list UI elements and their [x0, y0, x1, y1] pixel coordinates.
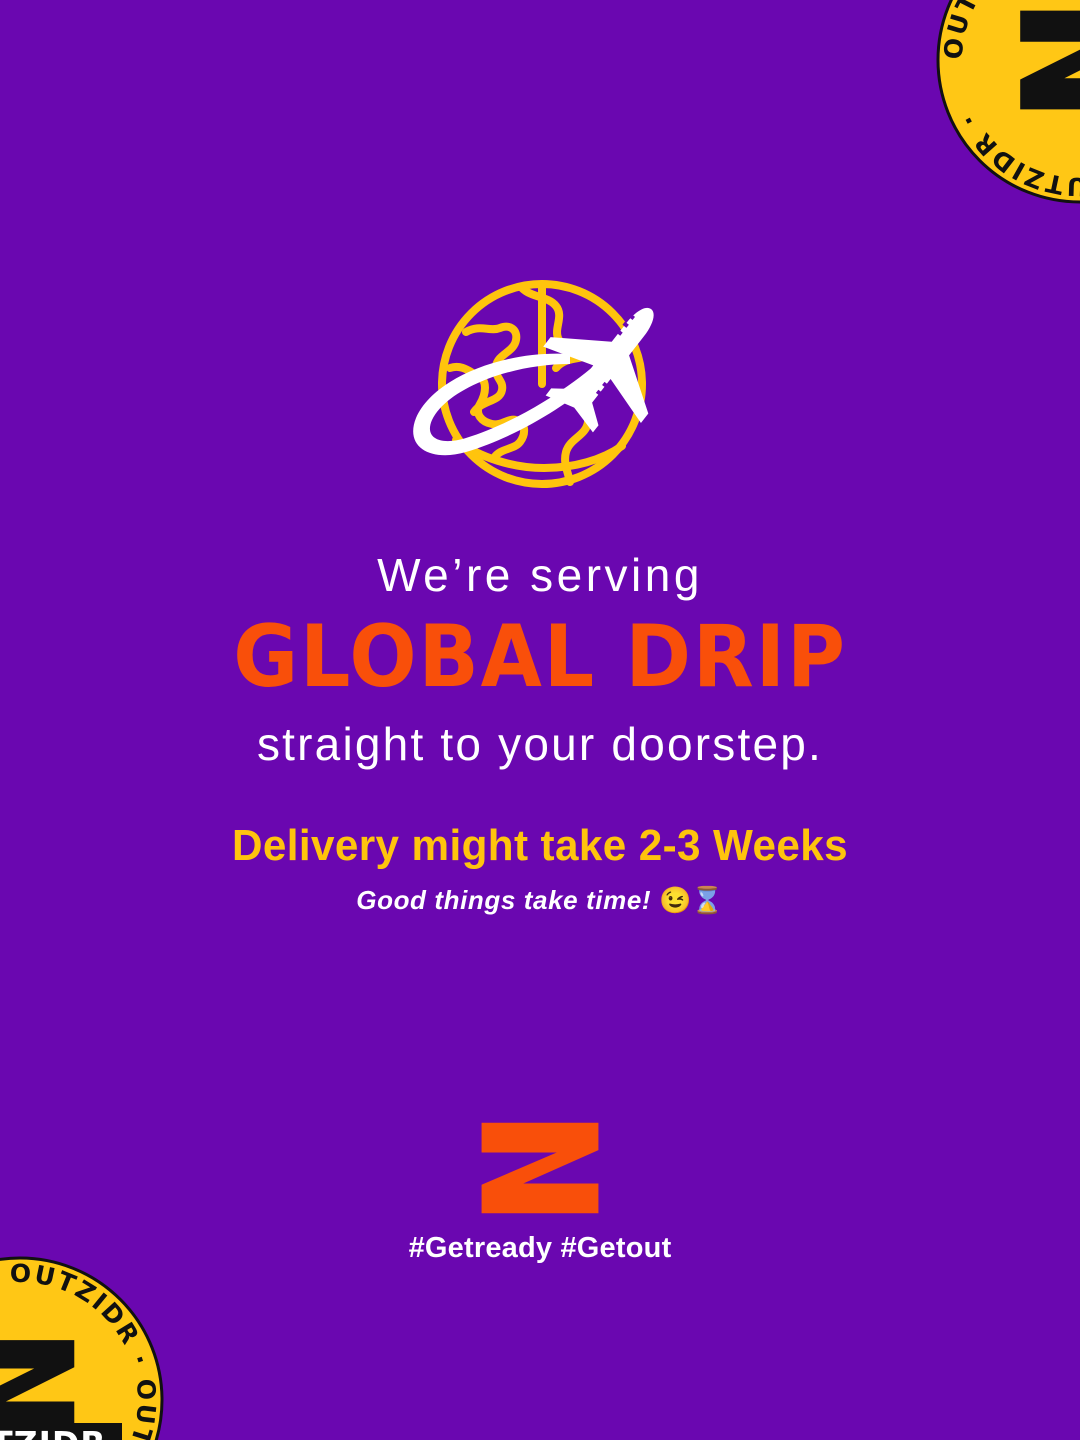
delivery-subtext-label: Good things take time! [356, 885, 651, 915]
headline-line-1: We’re serving [0, 548, 1080, 602]
delivery-headline: Delivery might take 2-3 Weeks [22, 820, 1059, 873]
globe-airplane-icon [370, 272, 710, 502]
footer-brand-block: #Getready #Getout [0, 1122, 1080, 1265]
badge-ring-text: OUTZIDR · OUTZIDR · OUTZIDR · OUTZIDR · [939, 0, 1080, 201]
badge-circle [0, 1258, 162, 1440]
badge-wordmark: OUTZIDR [0, 1423, 122, 1440]
z-logo-icon [0, 1340, 74, 1430]
badge-wordmark-text: OUTZIDR [0, 1424, 107, 1440]
headline-block: We’re serving GLOBAL DRIP straight to yo… [0, 548, 1080, 772]
headline-line-2-global-drip: GLOBAL DRIP [43, 610, 1037, 705]
delivery-subtext: Good things take time! 😉⌛ [0, 885, 1080, 916]
delivery-note-block: Delivery might take 2-3 Weeks Good thing… [0, 820, 1080, 916]
outzidr-badge-top-right: OUTZIDR · OUTZIDR · OUTZIDR · OUTZIDR · [935, 0, 1080, 205]
brand-z-logo [478, 1122, 602, 1214]
headline-line-3: straight to your doorstep. [0, 717, 1080, 772]
hashtags-text: #Getready #Getout [409, 1232, 672, 1265]
badge-circle [938, 0, 1080, 202]
promo-poster: OUTZIDR · OUTZIDR · OUTZIDR · OUTZIDR · [0, 0, 1080, 1440]
z-logo-icon [482, 1123, 599, 1214]
outzidr-badge-bottom-left: OUTZIDR · OUTZIDR · OUTZIDR · OUTZIDR · … [0, 1255, 165, 1440]
z-logo-icon [1020, 11, 1080, 110]
globe-airplane-icon-wrap [0, 272, 1080, 502]
wink-hourglass-emoji: 😉⌛ [659, 885, 724, 915]
badge-ring-text: OUTZIDR · OUTZIDR · OUTZIDR · OUTZIDR · [0, 1259, 161, 1440]
